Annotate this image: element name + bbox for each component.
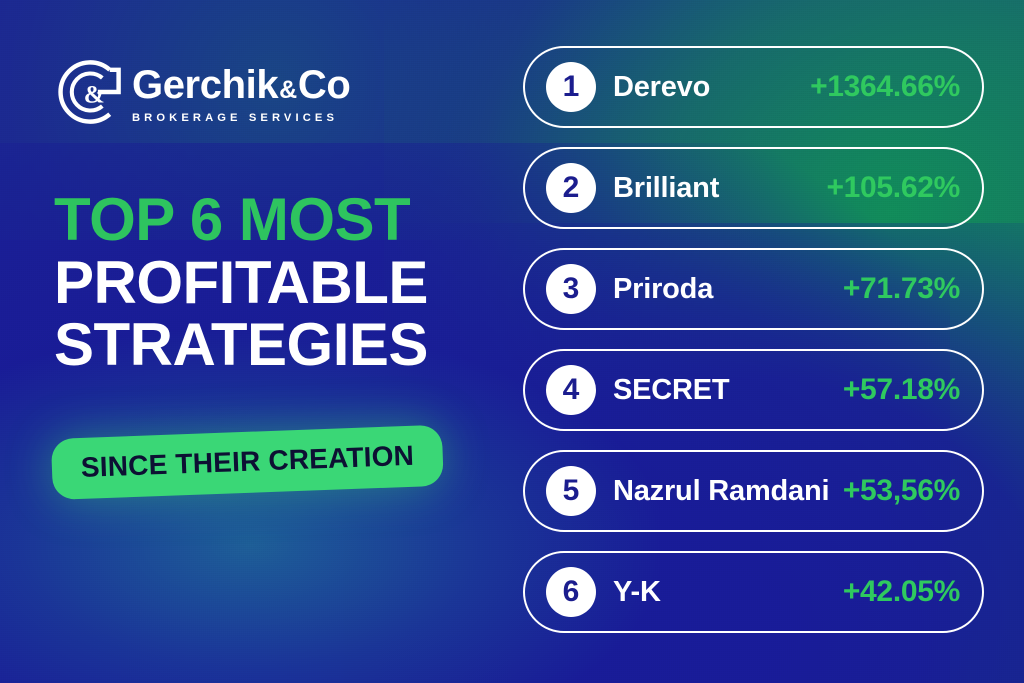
- brand-logo-text: Gerchik&Co BROKERAGE SERVICES: [132, 61, 350, 124]
- ranking-row: 1 Derevo +1364.66%: [523, 46, 984, 128]
- rank-badge: 3: [546, 264, 596, 314]
- brand-ampersand: &: [278, 78, 298, 103]
- ranking-row: 2 Brilliant +105.62%: [523, 147, 984, 229]
- ranking-list: 1 Derevo +1364.66% 2 Brilliant +105.62% …: [523, 46, 984, 633]
- brand-name: Gerchik&Co: [132, 65, 350, 105]
- brand-name-part1: Gerchik: [132, 65, 278, 105]
- ranking-row: 6 Y-K +42.05%: [523, 551, 984, 633]
- headline-line-3: STRATEGIES: [54, 316, 524, 374]
- poster-canvas: & Gerchik&Co BROKERAGE SERVICES TOP 6 MO…: [0, 0, 1024, 683]
- strategy-return: +57.18%: [843, 373, 960, 407]
- brand-name-part2: Co: [298, 65, 351, 105]
- strategy-name: Derevo: [613, 71, 810, 104]
- headline-line-1: TOP 6 MOST: [54, 191, 524, 249]
- svg-text:&: &: [84, 81, 105, 108]
- brand-tagline: BROKERAGE SERVICES: [132, 112, 350, 124]
- strategy-return: +42.05%: [843, 575, 960, 609]
- rank-badge: 1: [546, 62, 596, 112]
- strategy-return: +1364.66%: [810, 70, 960, 104]
- strategy-name: Y-K: [613, 576, 843, 609]
- strategy-return: +105.62%: [826, 171, 960, 205]
- headline-block: TOP 6 MOST PROFITABLE STRATEGIES: [54, 191, 524, 374]
- gerchik-monogram-icon: &: [52, 55, 126, 129]
- strategy-name: Brilliant: [613, 172, 826, 205]
- strategy-return: +71.73%: [843, 272, 960, 306]
- strategy-name: SECRET: [613, 374, 843, 407]
- rank-badge: 6: [546, 567, 596, 617]
- headline-line-2: PROFITABLE: [54, 254, 524, 312]
- rank-badge: 4: [546, 365, 596, 415]
- rank-badge: 5: [546, 466, 596, 516]
- ranking-row: 4 SECRET +57.18%: [523, 349, 984, 431]
- strategy-return: +53,56%: [843, 474, 960, 508]
- strategy-name: Priroda: [613, 273, 843, 306]
- rank-badge: 2: [546, 163, 596, 213]
- brand-logo: & Gerchik&Co BROKERAGE SERVICES: [52, 55, 350, 129]
- ranking-row: 5 Nazrul Ramdani +53,56%: [523, 450, 984, 532]
- strategy-name: Nazrul Ramdani: [613, 475, 843, 508]
- ranking-row: 3 Priroda +71.73%: [523, 248, 984, 330]
